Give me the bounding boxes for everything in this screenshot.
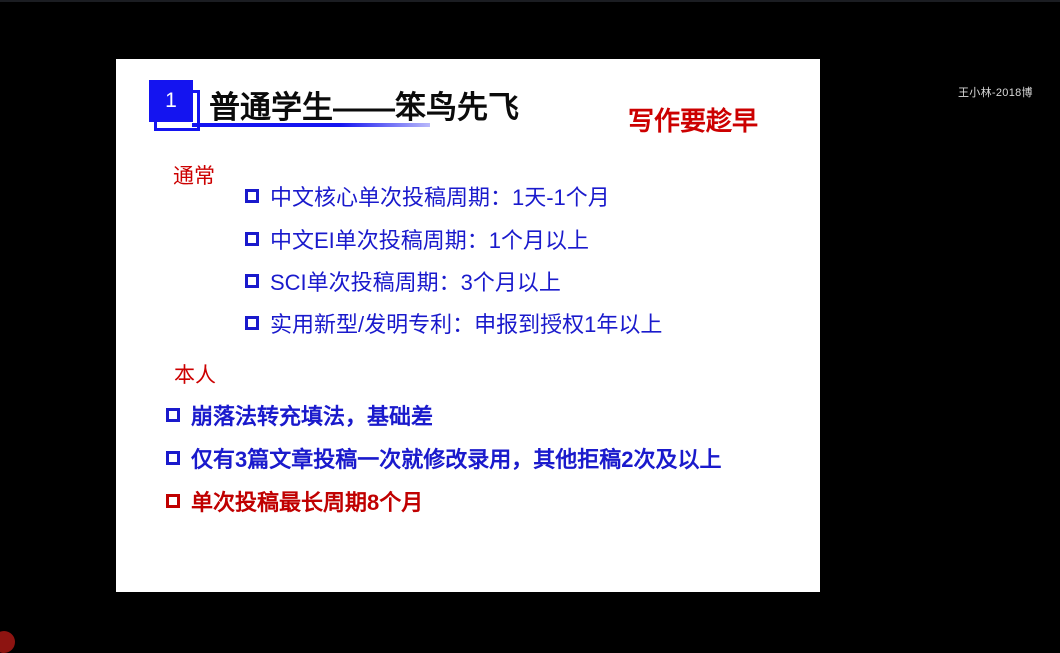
list-item-label: SCI单次投稿周期：3个月以上 <box>270 270 561 296</box>
list-item: 中文核心单次投稿周期：1天-1个月 <box>245 185 610 211</box>
record-dot-icon[interactable] <box>0 631 15 653</box>
page-title: 普通学生——笨鸟先飞 <box>209 82 519 127</box>
section-label-self: 本人 <box>174 359 216 389</box>
hollow-square-icon <box>245 316 259 330</box>
presentation-slide: 1 普通学生——笨鸟先飞 写作要趁早 通常 中文核心单次投稿周期：1天-1个月 … <box>116 59 820 592</box>
list-item: 中文EI单次投稿周期：1个月以上 <box>245 228 589 254</box>
list-item-label: 单次投稿最长周期8个月 <box>191 490 423 516</box>
watermark-label: 王小林-2018博 <box>958 86 1033 100</box>
hollow-square-icon <box>245 274 259 288</box>
slide-number-badge: 1 <box>149 80 209 136</box>
hollow-square-icon <box>245 189 259 203</box>
list-item-label: 崩落法转充填法，基础差 <box>191 404 433 430</box>
list-item: SCI单次投稿周期：3个月以上 <box>245 270 561 296</box>
badge-number-label: 1 <box>149 80 193 122</box>
video-stage: 王小林-2018博 1 普通学生——笨鸟先飞 写作要趁早 通常 中文核心单次投稿… <box>0 0 1060 645</box>
list-item: 单次投稿最长周期8个月 <box>166 490 423 516</box>
list-item: 仅有3篇文章投稿一次就修改录用，其他拒稿2次及以上 <box>166 447 721 473</box>
hollow-square-icon <box>166 451 180 465</box>
list-item-label: 中文核心单次投稿周期：1天-1个月 <box>270 185 610 211</box>
section-label-common: 通常 <box>173 160 215 190</box>
list-item-label: 实用新型/发明专利：申报到授权1年以上 <box>270 312 662 338</box>
hollow-square-icon <box>166 408 180 422</box>
slide-header: 1 普通学生——笨鸟先飞 写作要趁早 <box>116 59 820 147</box>
list-item-label: 中文EI单次投稿周期：1个月以上 <box>270 228 589 254</box>
hollow-square-icon <box>245 232 259 246</box>
title-underline-rule <box>192 123 430 127</box>
accent-heading: 写作要趁早 <box>628 101 758 138</box>
top-hairline <box>0 0 1060 2</box>
list-item: 崩落法转充填法，基础差 <box>166 404 433 430</box>
hollow-square-icon <box>166 494 180 508</box>
list-item-label: 仅有3篇文章投稿一次就修改录用，其他拒稿2次及以上 <box>191 447 721 473</box>
list-item: 实用新型/发明专利：申报到授权1年以上 <box>245 312 662 338</box>
